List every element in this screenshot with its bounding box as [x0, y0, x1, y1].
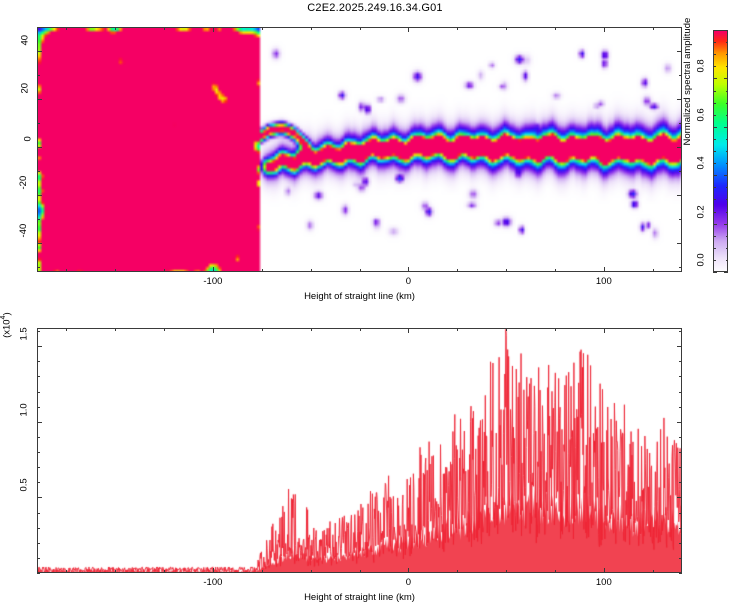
tick-mark: [724, 272, 728, 273]
tick-mark: [679, 392, 682, 393]
tick-mark: [115, 269, 116, 272]
colorbar-tick-label: 0.6: [695, 108, 706, 121]
tick-mark: [653, 27, 654, 30]
colorbar-tick-label: 0.8: [695, 60, 706, 73]
tick-mark: [506, 570, 507, 573]
y-tick-label: 20: [20, 83, 31, 94]
tick-mark: [724, 78, 728, 79]
x-tick-label: 0: [406, 577, 411, 588]
tick-mark: [213, 328, 214, 333]
tick-mark: [604, 27, 605, 32]
tick-mark: [679, 528, 682, 529]
snr-y-multiplier-label: (x104): [0, 312, 12, 338]
tick-mark: [37, 331, 40, 332]
tick-mark: [37, 543, 40, 544]
y-tick-label: 1.5: [18, 327, 29, 340]
tick-mark: [408, 568, 409, 573]
tick-mark: [677, 147, 682, 148]
tick-mark: [37, 267, 40, 268]
tick-mark: [679, 467, 682, 468]
y-tick-label: 40: [20, 35, 31, 46]
tick-mark: [726, 66, 729, 67]
tick-mark: [679, 407, 682, 408]
tick-mark: [311, 328, 312, 331]
tick-mark: [360, 27, 361, 30]
tick-mark: [677, 422, 682, 423]
tick-mark: [679, 452, 682, 453]
tick-mark: [677, 195, 682, 196]
tick-mark: [726, 187, 729, 188]
tick-mark: [66, 269, 67, 272]
tick-mark: [262, 570, 263, 573]
y-tick-label: 1.0: [18, 403, 29, 416]
tick-mark: [713, 151, 716, 152]
tick-mark: [506, 328, 507, 331]
tick-mark: [713, 187, 716, 188]
tick-mark: [555, 27, 556, 30]
tick-mark: [164, 570, 165, 573]
tick-mark: [164, 269, 165, 272]
tick-mark: [724, 127, 728, 128]
tick-mark: [713, 272, 717, 273]
tick-mark: [713, 42, 716, 43]
tick-mark: [37, 75, 40, 76]
tick-mark: [679, 219, 682, 220]
figure-root: C2E2.2025.249.16.34.G01 -1000100 -40-200…: [0, 0, 750, 600]
tick-mark: [726, 42, 729, 43]
tick-mark: [37, 482, 40, 483]
tick-mark: [506, 269, 507, 272]
tick-mark: [37, 407, 40, 408]
tick-mark: [311, 27, 312, 30]
x-tick-label: 100: [596, 577, 612, 588]
tick-mark: [724, 224, 728, 225]
tick-mark: [213, 267, 214, 272]
tick-mark: [679, 437, 682, 438]
colorbar-tick-label: 0.2: [695, 205, 706, 218]
tick-mark: [311, 570, 312, 573]
tick-mark: [37, 497, 42, 498]
tick-mark: [37, 147, 42, 148]
tick-mark: [604, 267, 605, 272]
tick-mark: [653, 328, 654, 331]
tick-mark: [713, 139, 716, 140]
tick-mark: [713, 115, 716, 116]
tick-mark: [408, 267, 409, 272]
tick-mark: [37, 528, 40, 529]
page-title: C2E2.2025.249.16.34.G01: [0, 2, 750, 14]
tick-mark: [677, 497, 682, 498]
tick-mark: [506, 27, 507, 30]
tick-mark: [713, 103, 716, 104]
tick-mark: [653, 570, 654, 573]
snr-multiplier-close: ): [1, 312, 12, 315]
tick-mark: [66, 570, 67, 573]
tick-mark: [262, 269, 263, 272]
tick-mark: [37, 467, 40, 468]
tick-mark: [713, 54, 716, 55]
tick-mark: [713, 199, 716, 200]
colorbar-tick-label: 0.0: [695, 253, 706, 266]
tick-mark: [726, 30, 729, 31]
tick-mark: [726, 260, 729, 261]
tick-mark: [37, 243, 42, 244]
tick-mark: [164, 27, 165, 30]
tick-mark: [37, 513, 40, 514]
tick-mark: [677, 346, 682, 347]
tick-mark: [713, 127, 717, 128]
tick-mark: [726, 139, 729, 140]
tick-mark: [679, 171, 682, 172]
tick-mark: [679, 376, 682, 377]
tick-mark: [653, 269, 654, 272]
snr-x-axis-title: Height of straight line (km): [304, 592, 415, 603]
tick-mark: [726, 115, 729, 116]
tick-mark: [360, 269, 361, 272]
tick-mark: [713, 163, 716, 164]
snr-trace: [38, 329, 682, 573]
snr-plot-area: [37, 328, 682, 573]
tick-mark: [713, 78, 717, 79]
tick-mark: [37, 422, 42, 423]
tick-mark: [37, 219, 40, 220]
tick-mark: [726, 103, 729, 104]
tick-mark: [679, 482, 682, 483]
x-tick-label: 100: [596, 276, 612, 287]
tick-mark: [37, 558, 40, 559]
tick-mark: [115, 27, 116, 30]
y-tick-label: -20: [18, 176, 29, 190]
tick-mark: [713, 212, 716, 213]
tick-mark: [360, 328, 361, 331]
x-tick-label: -100: [203, 577, 222, 588]
tick-mark: [726, 163, 729, 164]
tick-mark: [37, 27, 40, 28]
tick-mark: [457, 328, 458, 331]
tick-mark: [37, 195, 42, 196]
tick-mark: [37, 573, 40, 574]
tick-mark: [311, 269, 312, 272]
tick-mark: [713, 224, 717, 225]
tick-mark: [66, 328, 67, 331]
tick-mark: [457, 570, 458, 573]
tick-mark: [37, 99, 42, 100]
tick-mark: [37, 361, 40, 362]
tick-mark: [457, 27, 458, 30]
tick-mark: [713, 260, 716, 261]
tick-mark: [713, 236, 716, 237]
tick-mark: [115, 570, 116, 573]
colorbar-tick-label: 0.4: [695, 156, 706, 169]
tick-mark: [555, 570, 556, 573]
tick-mark: [37, 392, 40, 393]
tick-mark: [726, 151, 729, 152]
tick-mark: [713, 91, 716, 92]
tick-mark: [726, 54, 729, 55]
tick-mark: [726, 248, 729, 249]
y-tick-label: 0: [22, 136, 33, 141]
tick-mark: [677, 243, 682, 244]
spectrogram-x-axis-title: Height of straight line (km): [304, 291, 415, 302]
tick-mark: [408, 27, 409, 32]
tick-mark: [555, 328, 556, 331]
tick-mark: [37, 346, 42, 347]
tick-mark: [713, 66, 716, 67]
tick-mark: [679, 361, 682, 362]
tick-mark: [726, 91, 729, 92]
tick-mark: [679, 573, 682, 574]
tick-mark: [213, 568, 214, 573]
y-tick-label: -40: [18, 224, 29, 238]
tick-mark: [37, 376, 40, 377]
tick-mark: [360, 570, 361, 573]
tick-mark: [164, 328, 165, 331]
tick-mark: [713, 175, 717, 176]
tick-mark: [457, 269, 458, 272]
tick-mark: [679, 331, 682, 332]
x-tick-label: -100: [203, 276, 222, 287]
tick-mark: [37, 123, 40, 124]
tick-mark: [724, 175, 728, 176]
tick-mark: [66, 27, 67, 30]
tick-mark: [679, 558, 682, 559]
spectrogram-plot-area: [37, 27, 682, 272]
tick-mark: [115, 328, 116, 331]
tick-mark: [37, 171, 40, 172]
tick-mark: [37, 452, 40, 453]
tick-mark: [37, 437, 40, 438]
snr-multiplier-base: (x10: [1, 319, 12, 337]
tick-mark: [262, 27, 263, 30]
snr-multiplier-exponent: 4: [0, 316, 7, 320]
x-tick-label: 0: [406, 276, 411, 287]
tick-mark: [37, 51, 42, 52]
tick-mark: [262, 328, 263, 331]
tick-mark: [679, 513, 682, 514]
tick-mark: [679, 543, 682, 544]
tick-mark: [408, 328, 409, 333]
tick-mark: [726, 199, 729, 200]
tick-mark: [679, 267, 682, 268]
tick-mark: [604, 328, 605, 333]
tick-mark: [726, 236, 729, 237]
spectrogram-image: [38, 28, 682, 272]
tick-mark: [555, 269, 556, 272]
tick-mark: [213, 27, 214, 32]
tick-mark: [604, 568, 605, 573]
tick-mark: [726, 212, 729, 213]
tick-mark: [713, 30, 716, 31]
colorbar-title: Normalized spectral amplitude: [682, 18, 693, 146]
y-tick-label: 0.5: [18, 479, 29, 492]
tick-mark: [713, 248, 716, 249]
